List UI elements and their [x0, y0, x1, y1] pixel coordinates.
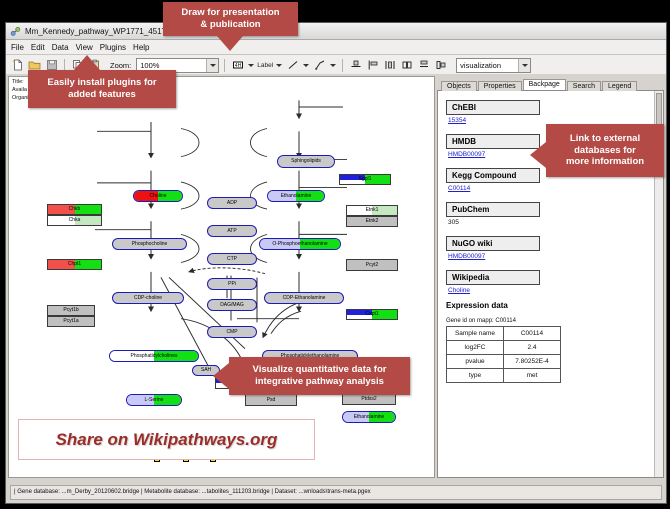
screenshot-root: Mm_Kennedy_pathway_WP1771_45176.gpml Fil…	[0, 0, 670, 509]
metabolite-node-atp[interactable]: ATP	[207, 225, 257, 237]
gene-node-pcyt2[interactable]: Pcyt2	[346, 259, 398, 271]
tab-backpage[interactable]: Backpage	[523, 79, 566, 90]
expression-key: type	[447, 369, 504, 383]
new-file-icon[interactable]	[10, 58, 25, 73]
stack-icon[interactable]	[416, 58, 431, 73]
node-label: L-Serine	[145, 398, 164, 403]
callout-draw-arrow-icon	[217, 36, 243, 51]
meta-organism: Organi	[12, 95, 29, 101]
gene-node-sgpl1[interactable]: Sgpl1	[339, 174, 391, 185]
expression-key: log2FC	[447, 341, 504, 355]
menu-file[interactable]: File	[11, 43, 24, 52]
gene-node-chka[interactable]: Chka	[47, 215, 102, 226]
menu-plugins[interactable]: Plugins	[100, 43, 126, 52]
align-top-icon[interactable]	[348, 58, 363, 73]
callout-link-to-external-databases: Link to external databases for more info…	[546, 124, 664, 177]
gene-node-etnk1[interactable]: Etnk1	[346, 205, 398, 216]
visualization-value: visualization	[460, 61, 501, 70]
expression-key: pvalue	[447, 355, 504, 369]
callout-plugins-arrow-icon	[74, 55, 100, 70]
node-label: Pcyt2	[366, 263, 379, 268]
node-label: CMP	[226, 330, 237, 335]
callout-link-text: Link to external databases for more info…	[566, 133, 644, 169]
tab-objects[interactable]: Objects	[441, 81, 477, 91]
db-header-hmdb: HMDB	[446, 134, 540, 149]
menu-data[interactable]: Data	[52, 43, 69, 52]
db-link-kegg-compound[interactable]: C00114	[448, 185, 655, 192]
node-label: Phosphatidylcholines	[131, 354, 178, 359]
zoom-label: Zoom:	[110, 61, 131, 70]
db-link-nugo-wiki[interactable]: HMDB00097	[448, 253, 655, 260]
callout-visualize-quantitative-data: Visualize quantitative data for integrat…	[229, 357, 410, 395]
metabolite-node-phosphocholine[interactable]: Phosphocholine	[112, 238, 187, 250]
metabolite-node-ethanolamine-right[interactable]: Ethanolamine	[342, 411, 396, 423]
db-header-nugo-wiki: NuGO wiki	[446, 236, 540, 251]
line-chevron-down-icon[interactable]	[302, 59, 310, 72]
app-icon	[10, 26, 21, 37]
node-label: Sgpl1	[359, 177, 372, 182]
line-tool-icon[interactable]	[285, 58, 300, 73]
metabolite-node-cmp[interactable]: CMP	[207, 326, 257, 338]
callout-visualize-arrow-icon	[213, 363, 229, 389]
callout-link-arrow-icon	[530, 142, 546, 168]
pathway-canvas[interactable]: Title: Availa Organi	[9, 77, 434, 477]
metabolite-node-dagmag[interactable]: DAG/MAG	[207, 299, 257, 311]
gene-node-pcyt1a[interactable]: Pcyt1a	[47, 316, 95, 327]
node-label: Psd	[267, 398, 276, 403]
node-label: Cept1	[365, 312, 378, 317]
metabolite-node-ppi[interactable]: PPi	[207, 278, 257, 290]
tab-legend[interactable]: Legend	[602, 81, 637, 91]
share-banner-text: Share on Wikipathways.org	[56, 430, 278, 450]
node-label: ADP	[227, 201, 237, 206]
menu-bar: File Edit Data View Plugins Help	[6, 40, 666, 55]
meta-title: Title:	[12, 79, 24, 85]
expression-key: Sample name	[447, 327, 504, 341]
metabolite-node-phosphatidylcholines[interactable]: Phosphatidylcholines	[109, 350, 199, 362]
status-bar: | Gene database: ...m_Derby_20120602.bri…	[6, 481, 666, 503]
expression-table: Sample nameC00114log2FC2.4pvalue7.80252E…	[446, 326, 561, 383]
meta-availability: Availa	[12, 87, 27, 93]
gene-id-line: Gene id on mapp: C00114	[446, 318, 655, 324]
visualization-combo[interactable]: visualization	[456, 58, 531, 73]
gene-node-psd[interactable]: Psd	[245, 394, 297, 406]
expression-data-heading: Expression data	[446, 301, 655, 310]
db-header-pubchem: PubChem	[446, 202, 540, 217]
node-label: Phosphocholine	[132, 242, 168, 247]
status-text: | Gene database: ...m_Derby_20120602.bri…	[10, 485, 662, 500]
node-label: Sphingolipids	[291, 159, 321, 164]
db-link-wikipedia[interactable]: Choline	[448, 287, 655, 294]
tab-search[interactable]: Search	[567, 81, 601, 91]
node-label: Pcyt1b	[63, 308, 78, 313]
node-label: SAH	[201, 368, 211, 373]
node-label: Chkb	[69, 207, 81, 212]
gene-node-cept1[interactable]: Cept1	[346, 309, 398, 320]
node-label: Choline	[150, 194, 167, 199]
node-label: Ethanolamine	[354, 415, 385, 420]
zoom-chevron-down-icon[interactable]	[206, 59, 218, 72]
pathway-canvas-wrapper[interactable]: Title: Availa Organi	[8, 76, 435, 478]
metabolite-node-cdp-choline[interactable]: CDP-choline	[112, 292, 184, 304]
callout-draw-text: Draw for presentation & publication	[181, 7, 279, 31]
metabolite-node-cdp-ethanolamine[interactable]: CDP-Ethanolamine	[264, 292, 344, 304]
expression-row: Sample nameC00114	[447, 327, 561, 341]
node-label: Ethanolamine	[281, 194, 312, 199]
label-chevron-down-icon[interactable]	[275, 59, 283, 72]
align-left-icon[interactable]	[365, 58, 380, 73]
node-label: DAG/MAG	[220, 303, 244, 308]
metabolite-node-sphingolipids[interactable]: Sphingolipids	[277, 155, 335, 168]
node-label: PPi	[228, 282, 236, 287]
tab-properties[interactable]: Properties	[478, 81, 522, 91]
expression-value: C00114	[504, 327, 561, 341]
expression-value: 7.80252E-4	[504, 355, 561, 369]
menu-help[interactable]: Help	[133, 43, 149, 52]
callout-easily-install-plugins: Easily install plugins for added feature…	[28, 70, 176, 108]
node-label: CTP	[227, 257, 237, 262]
metabolite-node-o-phosphoethanolamine[interactable]: O-Phosphoethanolamine	[259, 238, 341, 250]
interaction-tool-icon[interactable]	[312, 58, 327, 73]
node-label: CDP-choline	[134, 296, 162, 301]
visualization-chevron-down-icon[interactable]	[518, 59, 530, 72]
menu-view[interactable]: View	[76, 43, 93, 52]
metabolite-node-choline-top[interactable]: Choline	[133, 190, 183, 202]
db-header-kegg-compound: Kegg Compound	[446, 168, 540, 183]
share-banner: Share on Wikipathways.org	[18, 419, 315, 460]
gene-node-etnk2[interactable]: Etnk2	[346, 216, 398, 227]
node-label: Chka	[69, 218, 81, 223]
svg-text:4H: 4H	[235, 63, 242, 69]
callout-plugins-text: Easily install plugins for added feature…	[47, 77, 156, 101]
label-tool-label: Label	[257, 62, 273, 69]
zoom-value: 100%	[140, 61, 159, 70]
node-label: Etnk1	[366, 208, 379, 213]
callout-visualize-text: Visualize quantitative data for integrat…	[253, 364, 387, 388]
metabolite-node-ctp[interactable]: CTP	[207, 253, 257, 265]
metabolite-node-adp[interactable]: ADP	[207, 197, 257, 209]
distribute-horizontal-icon[interactable]	[382, 58, 397, 73]
callout-draw-for-presentation: Draw for presentation & publication	[163, 2, 298, 36]
gene-node-chkb[interactable]: Chkb	[47, 204, 102, 215]
node-label: Pcyt1a	[63, 319, 78, 324]
size-match-icon[interactable]	[399, 58, 414, 73]
toolbar-separator-2	[224, 59, 225, 72]
expression-row: log2FC2.4	[447, 341, 561, 355]
db-header-chebi: ChEBI	[446, 100, 540, 115]
expression-value: met	[504, 369, 561, 383]
bring-front-icon[interactable]	[433, 58, 448, 73]
metabolite-node-l-serine-left[interactable]: L-Serine	[126, 394, 182, 406]
toolbar-separator-3	[342, 59, 343, 72]
node-label: O-Phosphoethanolamine	[272, 242, 327, 247]
metabolite-node-ethanolamine-top[interactable]: Ethanolamine	[267, 190, 325, 202]
db-link-chebi[interactable]: 15354	[448, 117, 655, 124]
node-label: Ptdss2	[361, 397, 376, 402]
node-label: Chpt1	[68, 262, 81, 267]
expression-row: pvalue7.80252E-4	[447, 355, 561, 369]
node-label: CDP-Ethanolamine	[283, 296, 326, 301]
db-value-pubchem: 305	[448, 219, 655, 226]
menu-edit[interactable]: Edit	[31, 43, 45, 52]
node-label: Etnk2	[366, 219, 379, 224]
gene-node-pcyt1b[interactable]: Pcyt1b	[47, 305, 95, 316]
expression-row: typemet	[447, 369, 561, 383]
side-panel-tabs: Objects Properties Backpage Search Legen…	[437, 76, 664, 91]
gene-node-chpt1[interactable]: Chpt1	[47, 259, 102, 270]
title-bar: Mm_Kennedy_pathway_WP1771_45176.gpml	[6, 23, 666, 40]
datanode-icon[interactable]: 4H	[230, 58, 245, 73]
datanode-chevron-down-icon[interactable]	[247, 59, 255, 72]
expression-value: 2.4	[504, 341, 561, 355]
db-header-wikipedia: Wikipedia	[446, 270, 540, 285]
node-label: ATP	[227, 229, 236, 234]
interaction-chevron-down-icon[interactable]	[329, 59, 337, 72]
